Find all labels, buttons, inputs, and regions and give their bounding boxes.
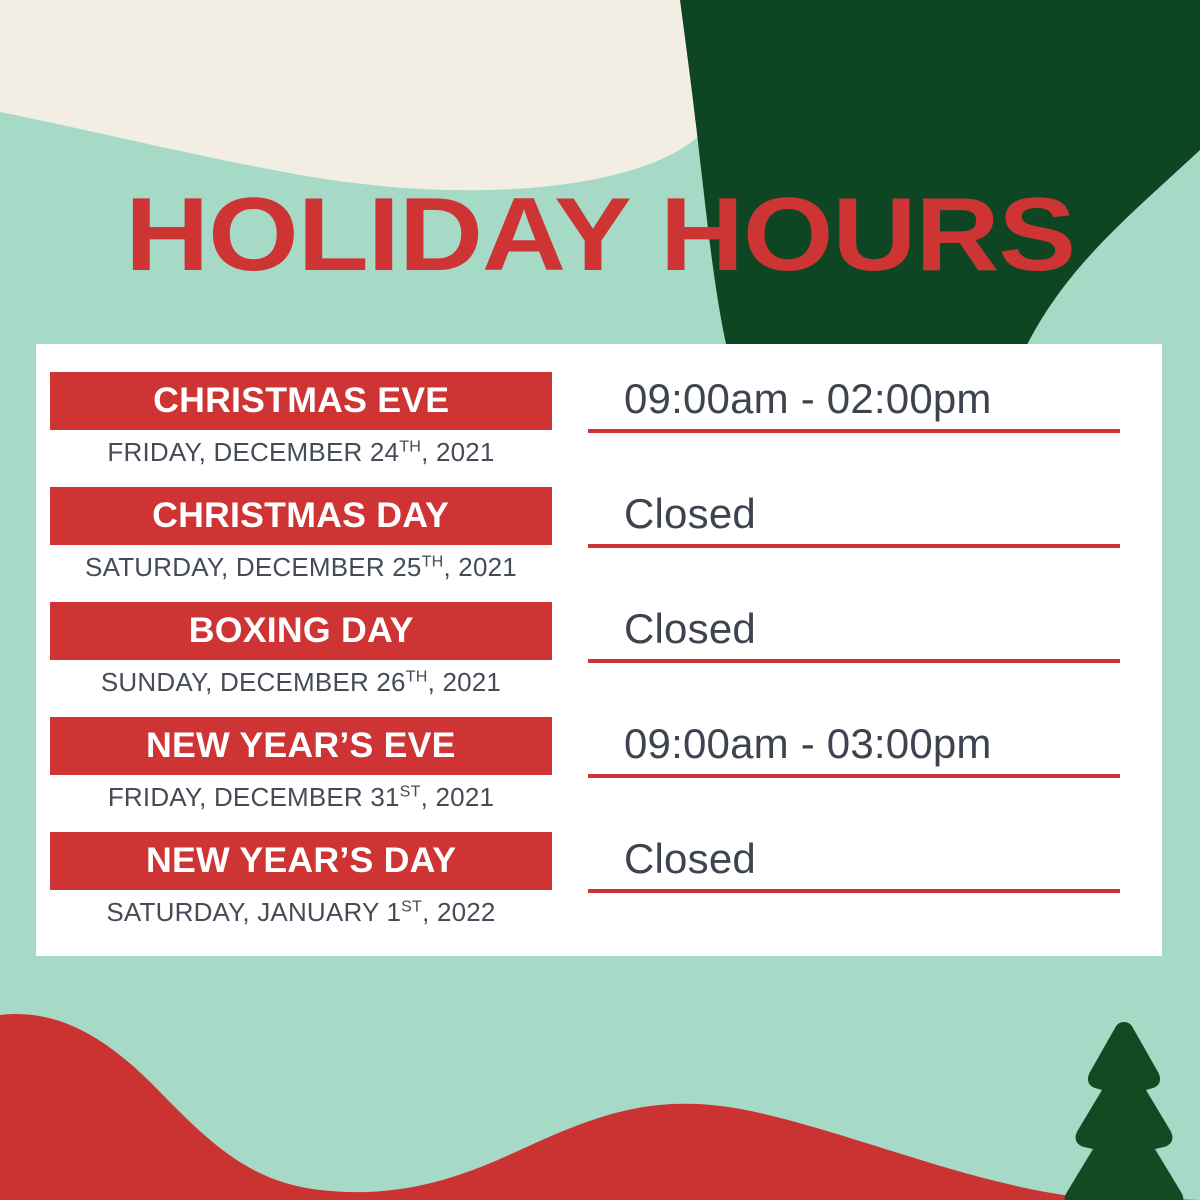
holiday-name-bar: CHRISTMAS EVE [50,372,552,430]
table-row: CHRISTMAS EVE FRIDAY, DECEMBER 24TH, 202… [36,372,1162,486]
date-prefix: SUNDAY, DECEMBER 26 [101,667,406,697]
date-ordinal: ST [400,782,421,800]
date-ordinal: TH [406,667,428,685]
date-suffix: , 2021 [421,437,495,467]
date-ordinal: ST [401,897,422,915]
holiday-hours: 09:00am - 03:00pm [588,713,1120,775]
holiday-name: CHRISTMAS DAY [153,496,450,536]
red-wave [0,1014,1200,1200]
date-suffix: , 2021 [443,552,517,582]
page-title: HOLIDAY HOURS [0,183,1200,287]
table-row: BOXING DAY SUNDAY, DECEMBER 26TH, 2021 C… [36,602,1162,716]
holiday-name-bar: NEW YEAR’S DAY [50,832,552,890]
table-row: CHRISTMAS DAY SATURDAY, DECEMBER 25TH, 2… [36,487,1162,601]
date-ordinal: TH [422,552,444,570]
date-suffix: , 2021 [421,782,495,812]
holiday-name: NEW YEAR’S EVE [146,726,456,766]
cream-blob [0,0,760,190]
holiday-name-bar: NEW YEAR’S EVE [50,717,552,775]
date-prefix: FRIDAY, DECEMBER 24 [107,437,399,467]
date-prefix: SATURDAY, JANUARY 1 [106,897,401,927]
holiday-name: NEW YEAR’S DAY [146,841,456,881]
holiday-name: CHRISTMAS EVE [153,381,449,421]
row-underline [588,429,1120,433]
holiday-name-bar: BOXING DAY [50,602,552,660]
holiday-hours-poster: HOLIDAY HOURS CHRISTMAS EVE FRIDAY, DECE… [0,0,1200,1200]
holiday-hours: 09:00am - 02:00pm [588,368,1120,430]
date-suffix: , 2021 [428,667,502,697]
row-underline [588,659,1120,663]
holiday-date: SUNDAY, DECEMBER 26TH, 2021 [50,662,552,702]
holiday-date: SATURDAY, DECEMBER 25TH, 2021 [50,547,552,587]
date-prefix: SATURDAY, DECEMBER 25 [85,552,422,582]
row-underline [588,889,1120,893]
row-underline [588,774,1120,778]
table-row: NEW YEAR’S DAY SATURDAY, JANUARY 1ST, 20… [36,832,1162,946]
christmas-tree-icon [1065,1022,1184,1200]
holiday-name-bar: CHRISTMAS DAY [50,487,552,545]
date-ordinal: TH [399,437,421,455]
date-suffix: , 2022 [422,897,496,927]
holiday-hours: Closed [588,483,1120,545]
holiday-hours: Closed [588,598,1120,660]
row-underline [588,544,1120,548]
holiday-hours: Closed [588,828,1120,890]
holiday-date: FRIDAY, DECEMBER 24TH, 2021 [50,432,552,472]
date-prefix: FRIDAY, DECEMBER 31 [108,782,400,812]
table-row: NEW YEAR’S EVE FRIDAY, DECEMBER 31ST, 20… [36,717,1162,831]
holiday-name: BOXING DAY [189,611,414,651]
hours-card: CHRISTMAS EVE FRIDAY, DECEMBER 24TH, 202… [36,344,1162,956]
holiday-date: FRIDAY, DECEMBER 31ST, 2021 [50,777,552,817]
holiday-date: SATURDAY, JANUARY 1ST, 2022 [50,892,552,932]
